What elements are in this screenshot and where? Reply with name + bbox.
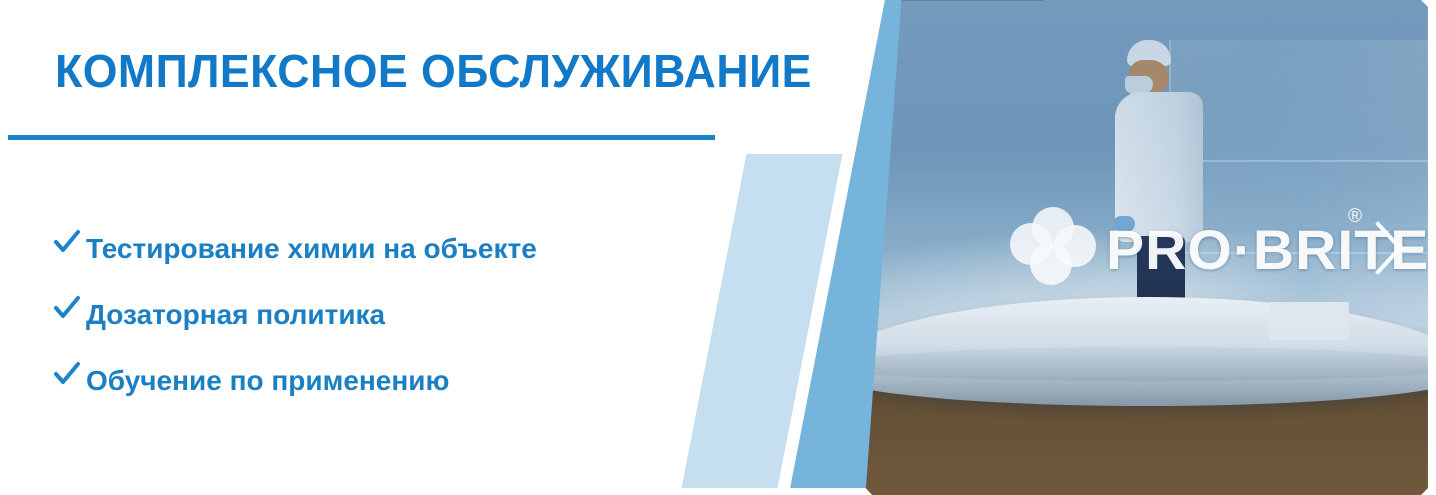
check-icon [52, 359, 86, 389]
feature-label: Обучение по применению [86, 364, 449, 398]
four-circle-cluster-icon [1010, 207, 1096, 293]
list-item: Тестирование химии на объекте [52, 228, 732, 268]
feature-label: Дозаторная политика [86, 298, 385, 332]
promo-banner: КОМПЛЕКСНОЕ ОБСЛУЖИВАНИЕ Тестирование хи… [0, 0, 1436, 495]
list-item: Обучение по применению [52, 360, 732, 400]
feature-list: Тестирование химии на объекте Дозаторная… [52, 228, 732, 426]
trademark-symbol: ® [1348, 206, 1362, 228]
check-icon [52, 227, 86, 257]
list-item: Дозаторная политика [52, 294, 732, 334]
feature-label: Тестирование химии на объекте [86, 232, 537, 266]
page-title: КОМПЛЕКСНОЕ ОБСЛУЖИВАНИЕ [55, 44, 812, 98]
title-divider [8, 135, 715, 140]
check-icon [52, 293, 86, 323]
chevron-right-icon[interactable] [1372, 218, 1406, 278]
text-column: КОМПЛЕКСНОЕ ОБСЛУЖИВАНИЕ Тестирование хи… [0, 0, 760, 495]
